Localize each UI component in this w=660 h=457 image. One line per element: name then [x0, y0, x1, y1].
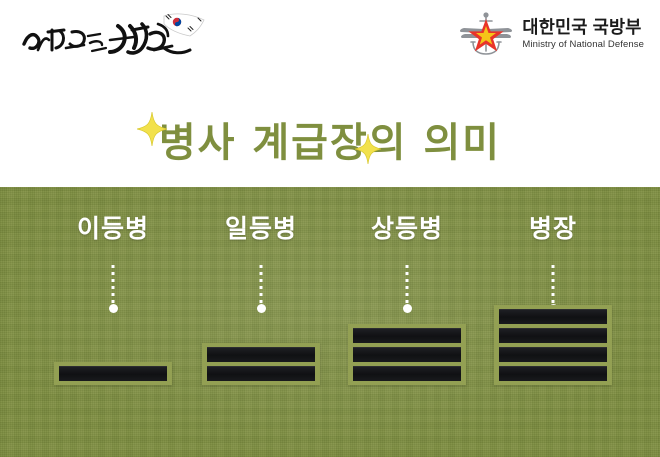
rank-column-sergeant: 병장 — [478, 187, 628, 457]
ministry-logo: 대한민국 국방부 Ministry of National Defense — [458, 8, 644, 60]
connector-endpoint-dot — [257, 304, 266, 313]
connector-dots — [260, 265, 263, 309]
connector-dots — [406, 265, 409, 309]
connector-dots — [112, 265, 115, 309]
insignia-bar — [499, 309, 607, 324]
insignia-bar — [353, 366, 461, 381]
page-title-area: 병사 계급장의 의미 — [0, 106, 660, 172]
rank-column-private: 이등병 — [38, 187, 188, 457]
connector-endpoint-dot — [109, 304, 118, 313]
ministry-name-block: 대한민국 국방부 Ministry of National Defense — [522, 19, 644, 49]
header-bar: 신뢰받는 충신강군 — [0, 0, 660, 187]
ministry-name-ko: 대한민국 국방부 — [522, 19, 644, 37]
connector-line — [406, 265, 409, 309]
insignia-bar — [207, 347, 315, 362]
connector-line — [112, 265, 115, 309]
rank-label: 일등병 — [186, 209, 336, 245]
insignia-bar — [499, 366, 607, 381]
insignia-patch — [202, 343, 320, 385]
mnd-emblem-icon — [458, 9, 514, 59]
insignia-bar — [353, 347, 461, 362]
rank-insignia-band: 이등병 일등병 상등병 — [0, 187, 660, 457]
rank-column-corporal: 상등병 — [332, 187, 482, 457]
insignia-bar — [353, 328, 461, 343]
insignia-bar — [59, 366, 167, 381]
connector-dots — [552, 265, 555, 309]
rank-label: 병장 — [478, 209, 628, 245]
ministry-name-en: Ministry of National Defense — [522, 40, 644, 50]
insignia-bar — [499, 347, 607, 362]
taegeukgi-flag-icon — [164, 14, 204, 36]
connector-line — [260, 265, 263, 309]
insignia-bar — [207, 366, 315, 381]
rank-label: 이등병 — [38, 209, 188, 245]
insignia-bar — [499, 328, 607, 343]
army-slogan-logo: 신뢰받는 충신강군 — [14, 10, 224, 62]
page-title: 병사 계급장의 의미 — [159, 120, 501, 166]
army-slogan-calligraphy-icon — [14, 10, 224, 62]
insignia-patch — [54, 362, 172, 385]
insignia-patch — [348, 324, 466, 385]
connector-endpoint-dot — [403, 304, 412, 313]
insignia-patch — [494, 305, 612, 385]
infographic-page: 신뢰받는 충신강군 — [0, 0, 660, 457]
rank-column-private-first-class: 일등병 — [186, 187, 336, 457]
rank-label: 상등병 — [332, 209, 482, 245]
connector-line — [552, 265, 555, 309]
